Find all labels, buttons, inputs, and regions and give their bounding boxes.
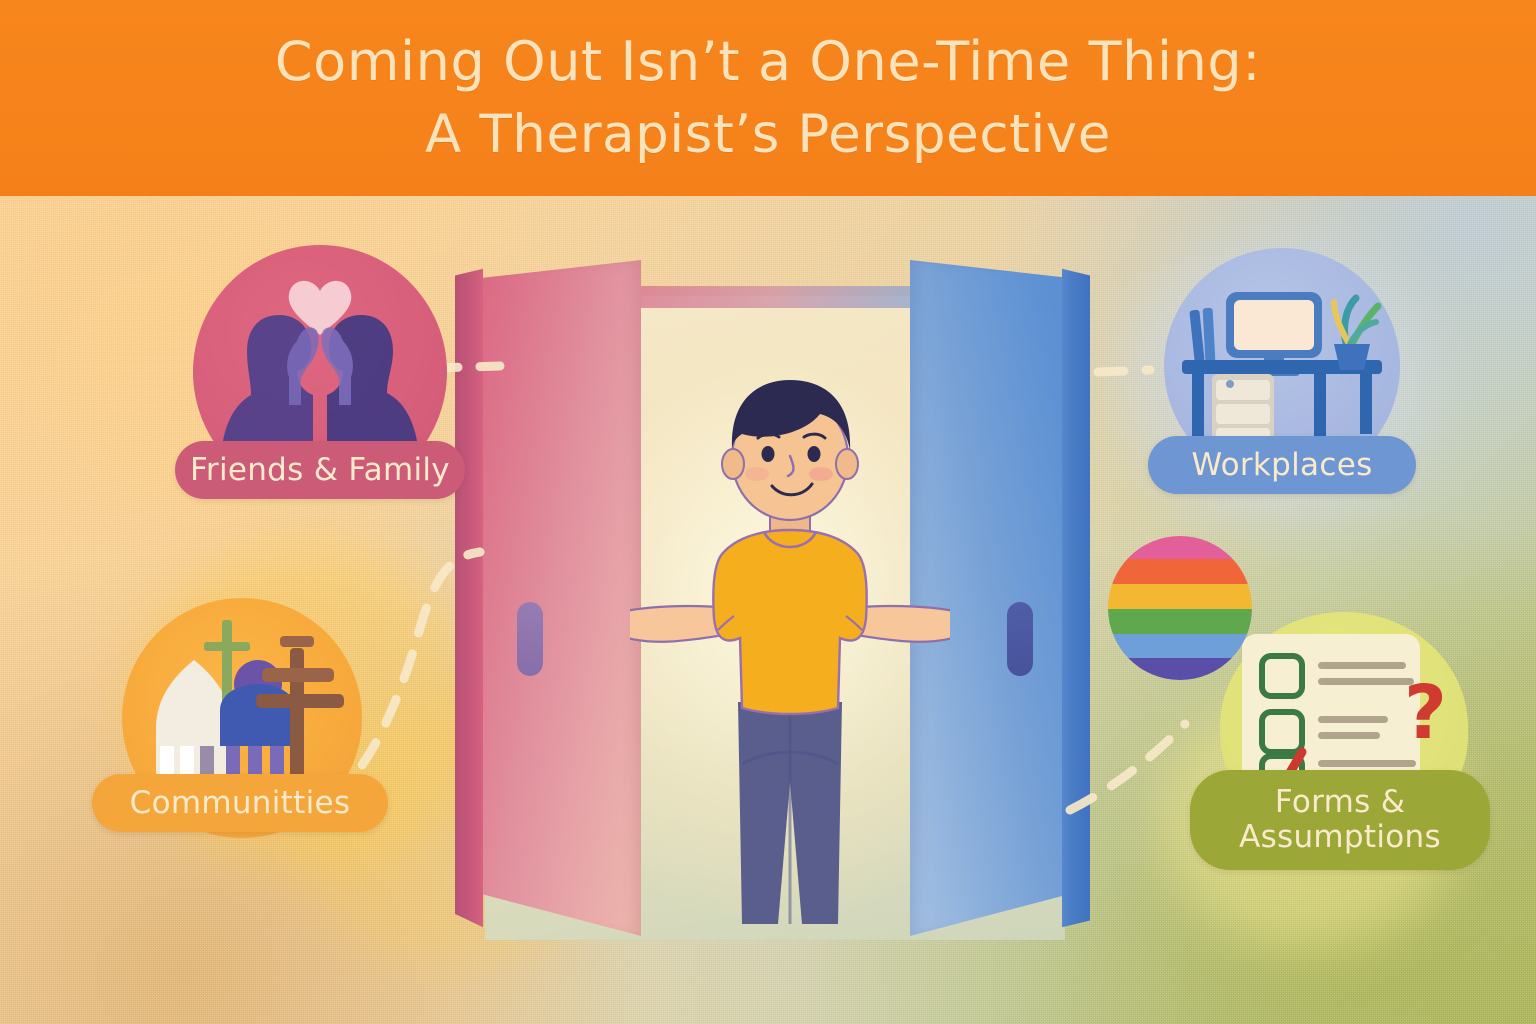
person-shirt [713, 530, 866, 714]
right-door-edge [1062, 262, 1090, 934]
node-label-forms-and-assumptions: Forms & Assumptions [1190, 770, 1490, 870]
forms-label-line-2: Assumptions [1239, 820, 1441, 855]
node-workplaces[interactable]: Workplaces [1148, 248, 1416, 538]
question-mark-icon: ? [1404, 670, 1447, 756]
person-figure [630, 372, 950, 940]
left-door-leaf [461, 260, 641, 936]
right-door-handle-icon [1007, 602, 1033, 676]
infographic-canvas: Friends & Family [0, 0, 1536, 1024]
forms-label-line-1: Forms & [1275, 785, 1405, 820]
page-title-line-1: Coming Out Isn’t a One-Time Thing: [275, 26, 1261, 98]
node-label-workplaces: Workplaces [1148, 436, 1416, 494]
books-icon [1189, 310, 1204, 363]
node-friends-and-family[interactable]: Friends & Family [175, 245, 465, 535]
person-eye-left [762, 446, 775, 462]
node-communities[interactable]: Communitties [92, 598, 388, 860]
node-label-friends-and-family: Friends & Family [175, 441, 465, 499]
person-eye-right [808, 446, 821, 462]
node-forms-and-assumptions[interactable]: ? Forms & Assumptions [1190, 612, 1490, 880]
page-title-line-2: A Therapist’s Perspective [425, 99, 1111, 170]
node-label-communities: Communitties [92, 774, 388, 832]
title-banner: Coming Out Isn’t a One-Time Thing: A The… [0, 0, 1536, 196]
left-door-handle-icon [517, 602, 543, 676]
